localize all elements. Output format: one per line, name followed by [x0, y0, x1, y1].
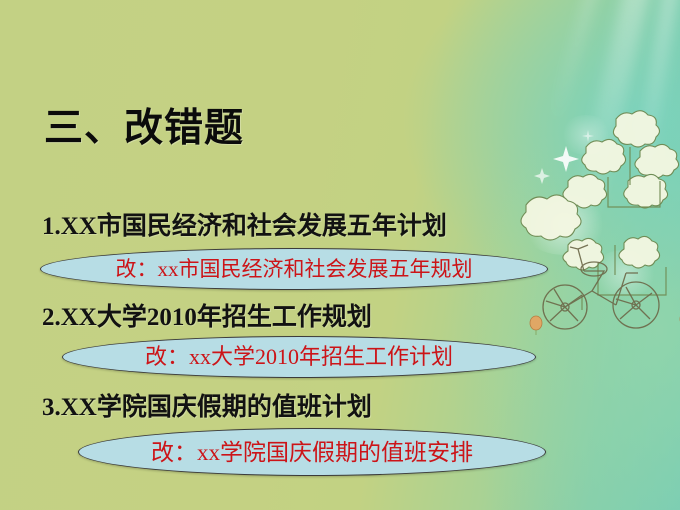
- page-title: 三、改错题: [44, 97, 244, 153]
- answer-text-1: 改：xx市国民经济和社会发展五年规划: [116, 259, 473, 280]
- light-streak-decoration: [570, 0, 656, 229]
- light-glow-decoration: [520, 195, 610, 255]
- answer-oval-2: 改：xx大学2010年招生工作计划: [62, 336, 536, 378]
- light-streak-decoration: [630, 0, 680, 200]
- answer-text-3: 改：xx学院国庆假期的值班安排: [151, 441, 473, 464]
- question-item-3: 3.XX学院国庆假期的值班计划: [42, 387, 372, 423]
- light-glow-decoration: [560, 115, 612, 155]
- question-item-2: 2.XX大学2010年招生工作规划: [42, 297, 372, 333]
- question-item-1: 1.XX市国民经济和社会发展五年计划: [42, 206, 447, 242]
- answer-oval-3: 改：xx学院国庆假期的值班安排: [78, 428, 546, 476]
- light-streak-decoration: [547, 0, 608, 128]
- sparkle-star-icon: [520, 120, 660, 240]
- answer-oval-1: 改：xx市国民经济和社会发展五年规划: [40, 248, 548, 290]
- tree-bicycle-illustration-icon: [520, 95, 680, 335]
- light-glow-decoration: [590, 250, 660, 296]
- answer-text-2: 改：xx大学2010年招生工作计划: [145, 346, 453, 368]
- presentation-slide: 三、改错题 1.XX市国民经济和社会发展五年计划 改：xx市国民经济和社会发展五…: [0, 0, 680, 510]
